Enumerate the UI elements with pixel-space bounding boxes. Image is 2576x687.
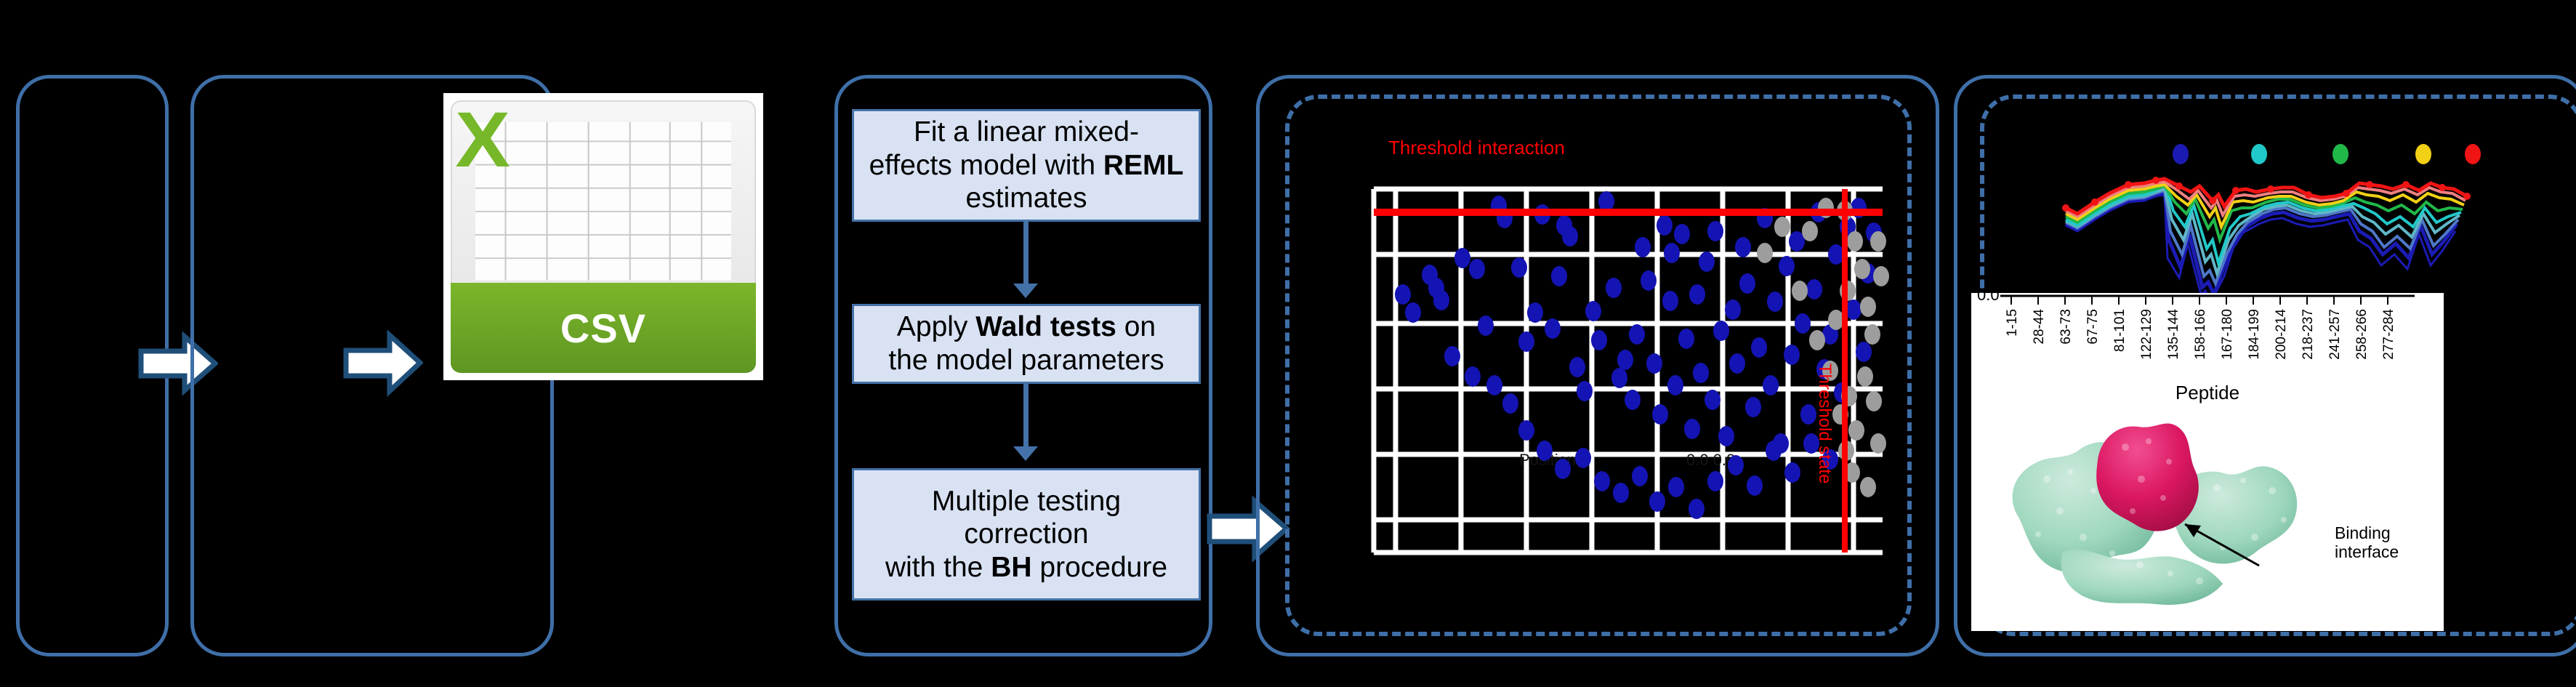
scatter-plot: Threshold interaction [1308, 145, 1890, 596]
peptide-x-axis [2000, 293, 2415, 309]
peptide-tick: 28-44 [2032, 309, 2058, 345]
step-bh-text: Multiple testing correction with the BH … [885, 485, 1167, 584]
peptide-tick: 218-237 [2301, 309, 2327, 360]
connector-reml-to-wald [1023, 222, 1029, 286]
peptide-tick: 135-144 [2166, 309, 2193, 360]
figure-canvas: X CSV Fit a linear mixed- effects model … [0, 0, 2576, 687]
threshold-state-label: Threshold state [1814, 363, 1835, 483]
peptide-tick: 81-101 [2112, 309, 2139, 352]
peptide-y-tick: 0.0 [1977, 286, 2000, 305]
binding-interface-line1: Binding [2335, 524, 2399, 543]
csv-caption: CSV [451, 283, 756, 373]
scatter-plot-svg: Position 0.0 0.0 [1308, 145, 1890, 596]
arrow-csv-to-analysis [343, 329, 423, 398]
csv-file-icon: X CSV [443, 93, 763, 380]
binding-interface-line2: interface [2335, 543, 2399, 562]
peptide-tick: 167-180 [2220, 309, 2247, 360]
step-box-reml[interactable]: Fit a linear mixed- effects model with R… [852, 109, 1201, 222]
peptide-tick: 158-166 [2193, 309, 2220, 360]
step-wald-text: Apply Wald tests on the model parameters [888, 310, 1164, 377]
peptide-tick: 63-73 [2058, 309, 2085, 345]
peptide-tick: 122-129 [2139, 309, 2166, 360]
connector-arrowhead-wald [1013, 284, 1038, 298]
spreadsheet-grid-icon [475, 122, 732, 281]
peptide-tick: 1-15 [2005, 309, 2032, 337]
peptide-tick: 241-257 [2327, 309, 2354, 360]
connector-wald-to-bh [1023, 384, 1029, 448]
step-box-wald[interactable]: Apply Wald tests on the model parameters [852, 304, 1201, 384]
binding-interface-annotation: Binding interface [2335, 524, 2399, 562]
peptide-line-chart [2006, 138, 2576, 309]
peptide-tick: 67-75 [2085, 309, 2112, 345]
excel-x-letter-icon: X [456, 100, 511, 179]
peptide-tick: 184-199 [2247, 309, 2274, 360]
legend-dots-icon [2173, 144, 2481, 164]
structure-figure-card: 0.0 1-15 [1971, 293, 2444, 631]
protein-structure-image [1990, 409, 2332, 620]
peptide-tick: 200-214 [2274, 309, 2301, 360]
step-reml-text: Fit a linear mixed- effects model with R… [858, 116, 1194, 215]
peptide-tick: 258-266 [2354, 309, 2381, 360]
peptide-tick: 277-284 [2381, 309, 2408, 360]
peptide-x-tick-labels: 1-15 28-44 63-73 67-75 81-101 122-129 13… [2005, 309, 2419, 367]
connector-arrowhead-bh [1013, 446, 1038, 461]
peptide-axis-title: Peptide [1971, 382, 2444, 404]
step-box-bh[interactable]: Multiple testing correction with the BH … [852, 468, 1201, 600]
